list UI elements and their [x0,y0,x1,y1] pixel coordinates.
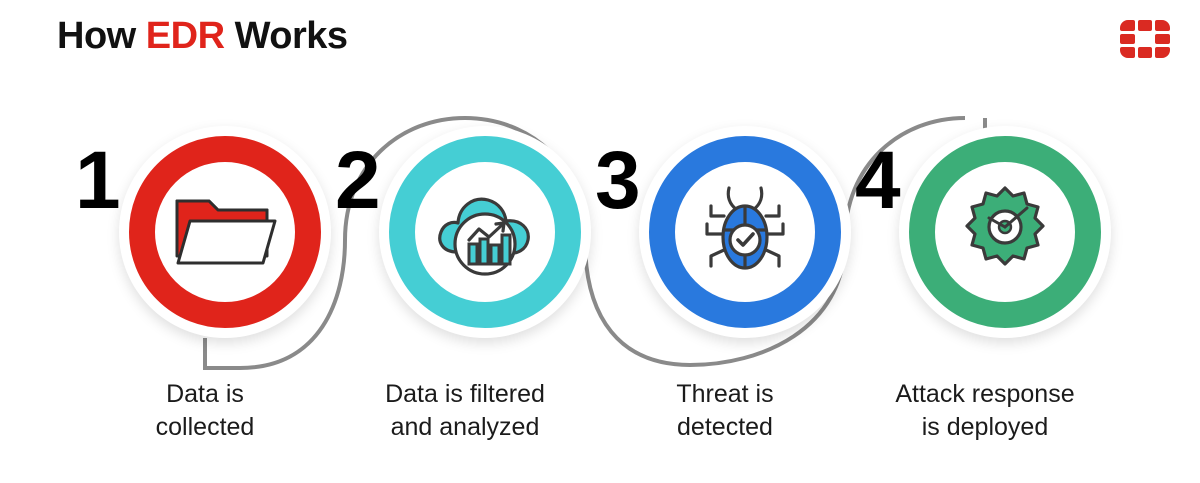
steps-container: 1 Data is collected [0,0,1200,483]
step-4-ring-wrap [905,130,1105,330]
cloud-analytics-icon [431,182,539,282]
step-4[interactable]: 4 Attack response is deployed [855,120,1115,480]
step-3-caption: Threat is detected [585,378,865,444]
step-1-ring-wrap [125,130,325,330]
step-2-icon-slot [389,136,581,328]
step-1-caption: Data is collected [65,378,345,444]
step-3-ring-wrap [645,130,845,330]
step-3-icon-slot [649,136,841,328]
bug-shield-check-icon [693,182,797,282]
step-4-icon-slot [909,136,1101,328]
step-2[interactable]: 2 Data is filtered and analyzed [335,120,595,480]
step-3-number: 3 [595,140,639,222]
step-1-number: 1 [75,140,119,222]
infographic-canvas: How EDR Works [0,0,1200,483]
step-2-caption: Data is filtered and analyzed [325,378,605,444]
step-1-icon-slot [129,136,321,328]
step-3[interactable]: 3 Threat is detected [595,120,855,480]
step-2-number: 2 [335,140,379,222]
step-4-number: 4 [855,140,899,222]
step-4-caption: Attack response is deployed [845,378,1125,444]
step-1[interactable]: 1 Data is collected [75,120,335,480]
folder-icon [171,187,279,277]
step-2-ring-wrap [385,130,585,330]
gear-clock-icon [955,182,1055,282]
